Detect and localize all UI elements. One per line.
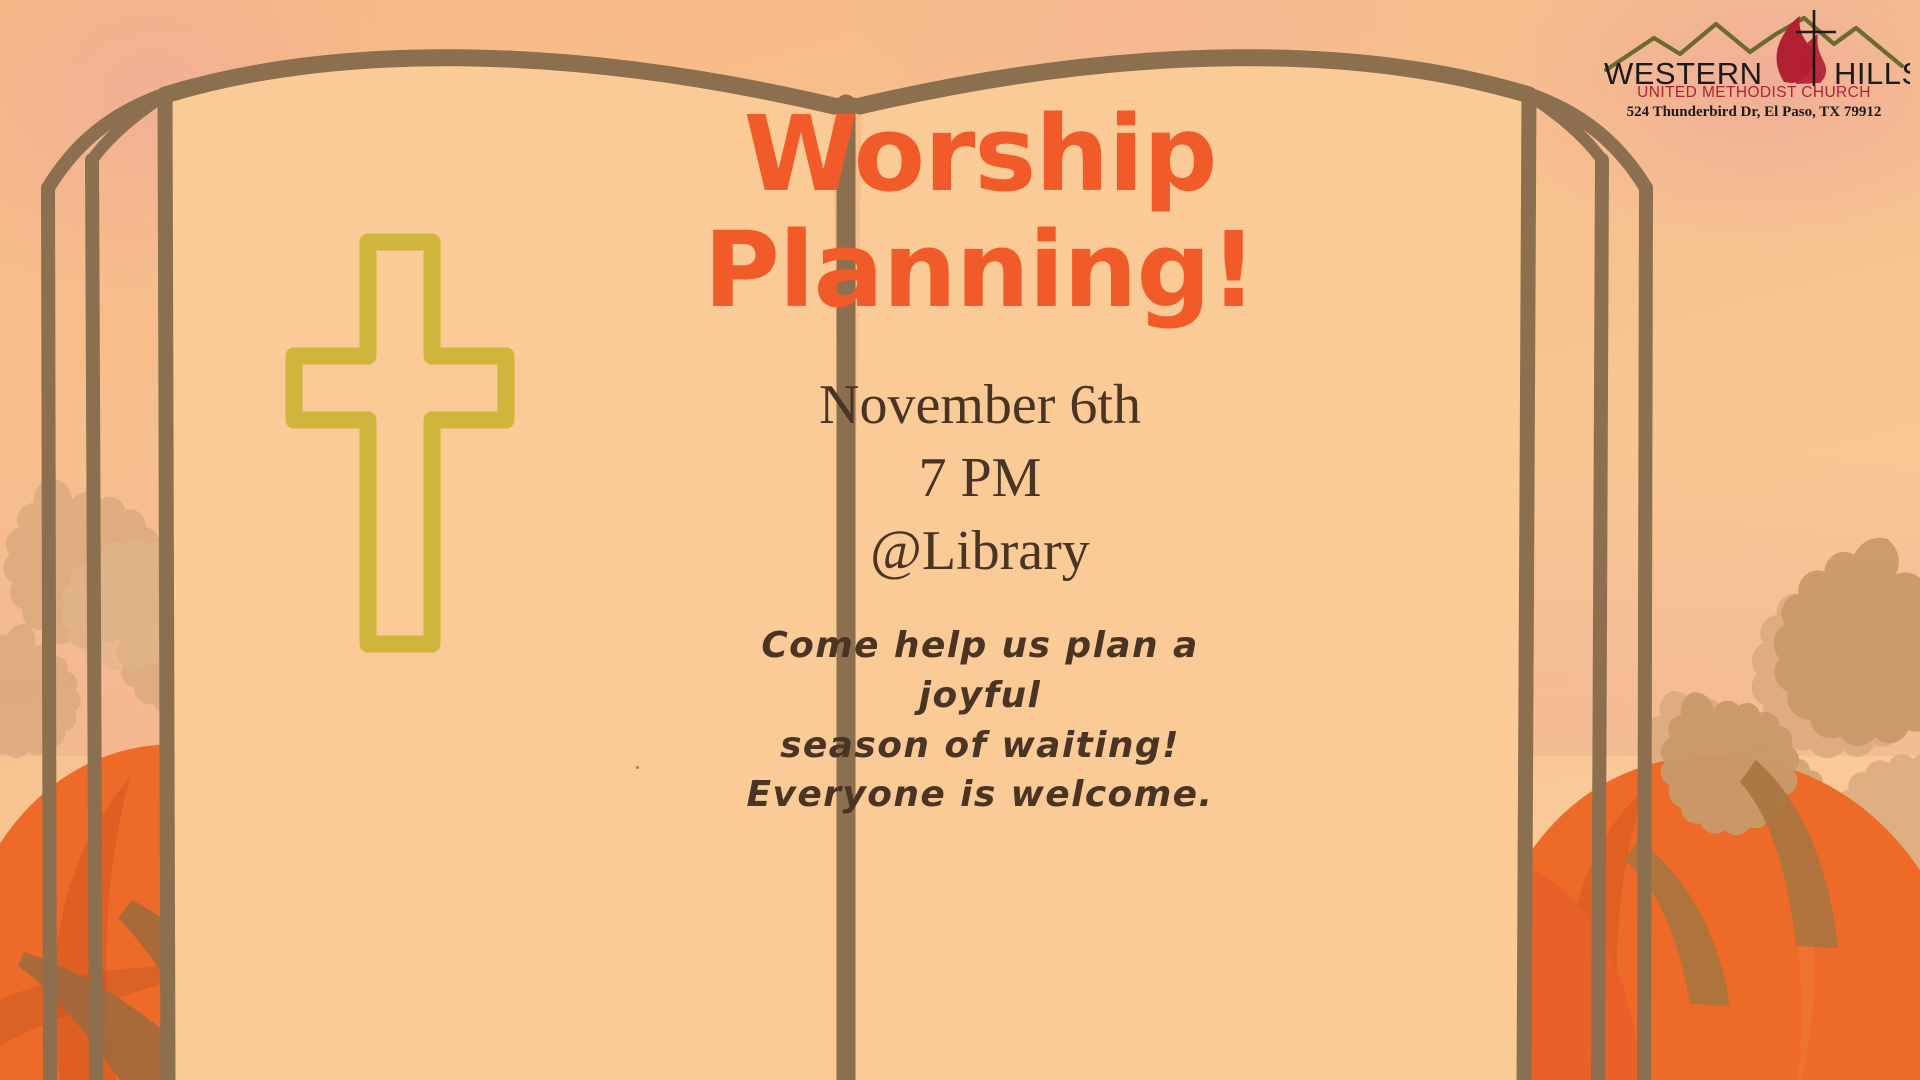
event-date: November 6th	[700, 369, 1260, 442]
flyer-canvas: Worship Planning! November 6th 7 PM @Lib…	[0, 0, 1920, 1080]
logo-word-western: WESTERN	[1604, 56, 1763, 86]
flame-icon	[1777, 16, 1827, 84]
logo-mark: WESTERN HILLS	[1598, 8, 1910, 86]
logo-word-hills: HILLS	[1834, 56, 1910, 86]
caption-line-3: Everyone is welcome.	[700, 770, 1260, 820]
caption-line-1: Come help us plan a joyful	[700, 621, 1260, 720]
right-page-content: Worship Planning! November 6th 7 PM @Lib…	[700, 96, 1260, 820]
headline-line-1: Worship	[700, 96, 1260, 212]
cross-icon	[280, 228, 520, 658]
caption-line-2: season of waiting!	[700, 721, 1260, 771]
event-details: November 6th 7 PM @Library	[700, 369, 1260, 587]
event-location: @Library	[700, 515, 1260, 588]
page-title: Worship Planning!	[700, 96, 1260, 329]
page-speck	[636, 766, 639, 769]
event-caption: Come help us plan a joyful season of wai…	[700, 621, 1260, 820]
church-logo: WESTERN HILLS UNITED METHODIST CHURCH 52…	[1598, 8, 1910, 121]
headline-line-2: Planning!	[700, 212, 1260, 328]
logo-address: 524 Thunderbird Dr, El Paso, TX 79912	[1598, 104, 1910, 121]
event-time: 7 PM	[700, 442, 1260, 515]
logo-subtitle: UNITED METHODIST CHURCH	[1598, 84, 1910, 102]
